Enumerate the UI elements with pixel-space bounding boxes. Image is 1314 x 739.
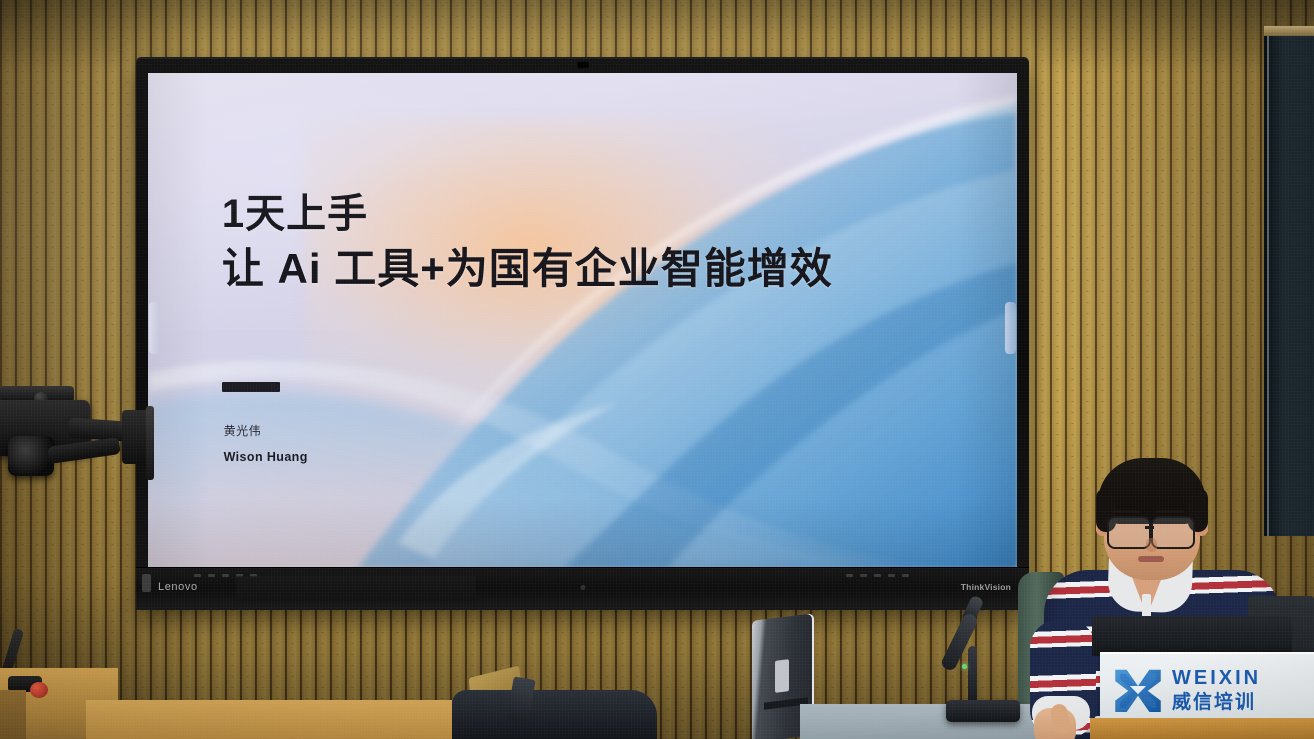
presenter-name-cn: 黄光伟 [224, 422, 308, 439]
weixin-brand-banner: WEIXIN 威信培训 [1100, 652, 1314, 726]
person-eyebrow-right [1156, 510, 1184, 513]
eyeglasses-icon-right-lens [1151, 516, 1195, 549]
slide-title-block: 1天上手 让 Ai 工具+为国有企业智能增效 [222, 192, 833, 292]
slide-divider-rule [222, 382, 280, 392]
center-desk-surface [86, 700, 452, 739]
weixin-w-mark-icon [1112, 666, 1164, 714]
person-nose [1146, 538, 1157, 552]
lenovo-thinkvision-display[interactable]: 1天上手 让 Ai 工具+为国有企业智能增效 黄光伟 Wison Huang [136, 57, 1029, 610]
person-mouth [1138, 556, 1164, 562]
thinkvision-brand-label: ThinkVision [961, 582, 1011, 592]
power-indicator-icon [580, 585, 585, 590]
eyeglasses-icon-left-lens [1107, 516, 1151, 549]
presentation-slide: 1天上手 让 Ai 工具+为国有企业智能增效 黄光伟 Wison Huang [148, 73, 1017, 568]
weixin-banner-cn: 威信培训 [1172, 693, 1261, 712]
microphone-status-led-icon [962, 664, 967, 669]
bezel-side-button-right[interactable] [1005, 302, 1016, 354]
backpack [452, 690, 657, 739]
presenter-name-en: Wison Huang [224, 450, 308, 464]
bezel-ports-right[interactable] [846, 574, 909, 577]
camera-mount-bracket [146, 406, 154, 480]
laptop-screen-back [1092, 616, 1292, 656]
eyeglasses-bridge [1145, 526, 1154, 529]
slide-title-line-2: 让 Ai 工具+为国有企业智能增效 [222, 245, 833, 292]
lenovo-brand-label: Lenovo [158, 581, 198, 593]
desk-wood-ledge [1090, 718, 1314, 739]
room-photo-scene: 1天上手 让 Ai 工具+为国有企业智能增效 黄光伟 Wison Huang [0, 0, 1314, 739]
weixin-banner-en: WEIXIN [1172, 668, 1261, 688]
display-screen[interactable]: 1天上手 让 Ai 工具+为国有企业智能增效 黄光伟 Wison Huang [148, 73, 1017, 568]
speaker-grille [236, 576, 476, 602]
podium-side-panel [0, 690, 26, 739]
camera-lens-icon [8, 436, 54, 476]
person-eyebrow-left [1112, 510, 1140, 513]
gooseneck-microphone-neck [968, 646, 977, 706]
podium-microphone-tip [30, 682, 48, 698]
slide-ribbon-artwork [148, 73, 1017, 568]
slide-title-line-1: 1天上手 [222, 192, 833, 237]
laptop-label-sticker [775, 659, 789, 693]
slide-presenter-block: 黄光伟 Wison Huang [224, 422, 308, 464]
camera-rig [0, 392, 170, 512]
monitor-bottom-bezel: Lenovo ThinkVision [136, 567, 1029, 610]
ir-receiver-icon [142, 574, 151, 592]
webcam-icon [576, 61, 589, 69]
gooseneck-microphone-base[interactable] [946, 700, 1020, 722]
weixin-banner-text: WEIXIN 威信培训 [1172, 668, 1261, 712]
bezel-side-button-left[interactable] [149, 302, 160, 354]
